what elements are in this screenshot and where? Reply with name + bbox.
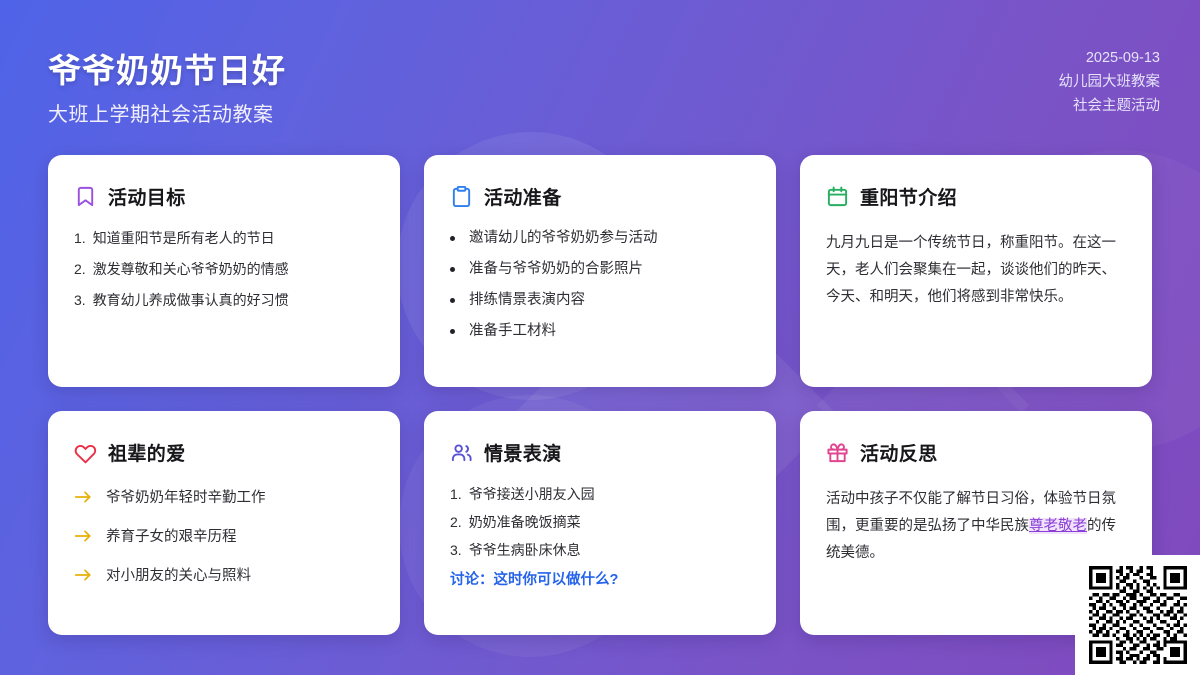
card-header: 重阳节介绍 xyxy=(826,183,1126,210)
meta-date: 2025-09-13 xyxy=(1059,46,1161,70)
preparation-list: 邀请幼儿的爷爷奶奶参与活动 准备与爷爷奶奶的合影照片 排练情景表演内容 准备手工… xyxy=(450,230,750,339)
header-meta: 2025-09-13 幼儿园大班教案 社会主题活动 xyxy=(1059,46,1161,118)
heart-icon xyxy=(74,441,97,464)
slide-canvas: 爷爷奶奶节日好 大班上学期社会活动教案 2025-09-13 幼儿园大班教案 社… xyxy=(0,0,1200,675)
list-item-text: 爷爷接送小朋友入园 xyxy=(469,486,595,502)
list-item: 对小朋友的关心与照料 xyxy=(74,564,374,585)
gift-icon xyxy=(826,441,849,464)
bullet-dot xyxy=(450,298,455,303)
card-title: 情景表演 xyxy=(484,439,562,466)
list-item: 准备手工材料 xyxy=(450,323,750,339)
card-title: 活动准备 xyxy=(484,183,562,210)
goal-list: 1.知道重阳节是所有老人的节日 2.激发尊敬和关心爷爷奶奶的情感 3.教育幼儿养… xyxy=(74,230,374,308)
intro-paragraph: 九月九日是一个传统节日，称重阳节。在这一天，老人们会聚集在一起，谈谈他们的昨天、… xyxy=(826,230,1126,311)
arrow-right-icon xyxy=(74,529,93,543)
list-item: 养育子女的艰辛历程 xyxy=(74,525,374,546)
list-item: 3.爷爷生病卧床休息 xyxy=(450,542,750,558)
qr-code[interactable] xyxy=(1089,566,1187,664)
love-list: 爷爷奶奶年轻时辛勤工作 养育子女的艰辛历程 对小朋友的关心与照料 xyxy=(74,486,374,585)
discussion-prompt: 讨论：这时你可以做什么? xyxy=(450,568,750,589)
list-item: 2.奶奶准备晚饭摘菜 xyxy=(450,514,750,530)
card-title: 重阳节介绍 xyxy=(860,183,957,210)
performance-list: 1.爷爷接送小朋友入园 2.奶奶准备晚饭摘菜 3.爷爷生病卧床休息 xyxy=(450,486,750,558)
list-item: 准备与爷爷奶奶的合影照片 xyxy=(450,261,750,277)
list-item: 排练情景表演内容 xyxy=(450,292,750,308)
users-icon xyxy=(450,441,473,464)
reflection-highlight: 尊老敬老 xyxy=(1029,518,1087,534)
bookmark-icon xyxy=(74,185,97,208)
list-item-text: 爷爷奶奶年轻时辛勤工作 xyxy=(106,486,266,507)
bullet-dot xyxy=(450,236,455,241)
list-item: 邀请幼儿的爷爷奶奶参与活动 xyxy=(450,230,750,246)
list-item-text: 爷爷生病卧床休息 xyxy=(469,542,581,558)
calendar-icon xyxy=(826,185,849,208)
card-activity-goals: 活动目标 1.知道重阳节是所有老人的节日 2.激发尊敬和关心爷爷奶奶的情感 3.… xyxy=(48,155,400,387)
list-item-text: 教育幼儿养成做事认真的好习惯 xyxy=(93,292,289,308)
list-item-text: 邀请幼儿的爷爷奶奶参与活动 xyxy=(469,230,658,246)
card-header: 祖辈的爱 xyxy=(74,439,374,466)
page-title: 爷爷奶奶节日好 xyxy=(48,44,286,92)
card-title: 祖辈的爱 xyxy=(108,439,186,466)
list-item-text: 奶奶准备晚饭摘菜 xyxy=(469,514,581,530)
card-scene-performance: 情景表演 1.爷爷接送小朋友入园 2.奶奶准备晚饭摘菜 3.爷爷生病卧床休息 讨… xyxy=(424,411,776,635)
qr-code-container[interactable] xyxy=(1075,555,1200,675)
page-subtitle: 大班上学期社会活动教案 xyxy=(48,98,274,127)
list-item: 1.知道重阳节是所有老人的节日 xyxy=(74,230,374,246)
list-item: 2.激发尊敬和关心爷爷奶奶的情感 xyxy=(74,261,374,277)
bullet-dot xyxy=(450,267,455,272)
card-header: 活动反思 xyxy=(826,439,1126,466)
card-header: 情景表演 xyxy=(450,439,750,466)
meta-category: 幼儿园大班教案 xyxy=(1059,70,1161,94)
card-title: 活动反思 xyxy=(860,439,938,466)
card-grid: 活动目标 1.知道重阳节是所有老人的节日 2.激发尊敬和关心爷爷奶奶的情感 3.… xyxy=(48,155,1153,635)
list-item-text: 知道重阳节是所有老人的节日 xyxy=(93,230,275,246)
list-item-text: 养育子女的艰辛历程 xyxy=(106,525,237,546)
arrow-right-icon xyxy=(74,568,93,582)
clipboard-icon xyxy=(450,185,473,208)
list-item-text: 激发尊敬和关心爷爷奶奶的情感 xyxy=(93,261,289,277)
meta-theme: 社会主题活动 xyxy=(1059,94,1161,118)
card-activity-preparation: 活动准备 邀请幼儿的爷爷奶奶参与活动 准备与爷爷奶奶的合影照片 排练情景表演内容… xyxy=(424,155,776,387)
list-item-text: 准备与爷爷奶奶的合影照片 xyxy=(469,261,643,277)
bullet-dot xyxy=(450,329,455,334)
list-item-text: 准备手工材料 xyxy=(469,323,556,339)
list-item: 爷爷奶奶年轻时辛勤工作 xyxy=(74,486,374,507)
arrow-right-icon xyxy=(74,490,93,504)
list-item: 1.爷爷接送小朋友入园 xyxy=(450,486,750,502)
list-item: 3.教育幼儿养成做事认真的好习惯 xyxy=(74,292,374,308)
card-grandparents-love: 祖辈的爱 爷爷奶奶年轻时辛勤工作 养育子女的艰辛历程 xyxy=(48,411,400,635)
slide-header: 爷爷奶奶节日好 大班上学期社会活动教案 2025-09-13 幼儿园大班教案 社… xyxy=(0,0,1200,150)
card-header: 活动准备 xyxy=(450,183,750,210)
card-header: 活动目标 xyxy=(74,183,374,210)
list-item-text: 对小朋友的关心与照料 xyxy=(106,564,251,585)
list-item-text: 排练情景表演内容 xyxy=(469,292,585,308)
card-chongyang-intro: 重阳节介绍 九月九日是一个传统节日，称重阳节。在这一天，老人们会聚集在一起，谈谈… xyxy=(800,155,1152,387)
card-title: 活动目标 xyxy=(108,183,186,210)
